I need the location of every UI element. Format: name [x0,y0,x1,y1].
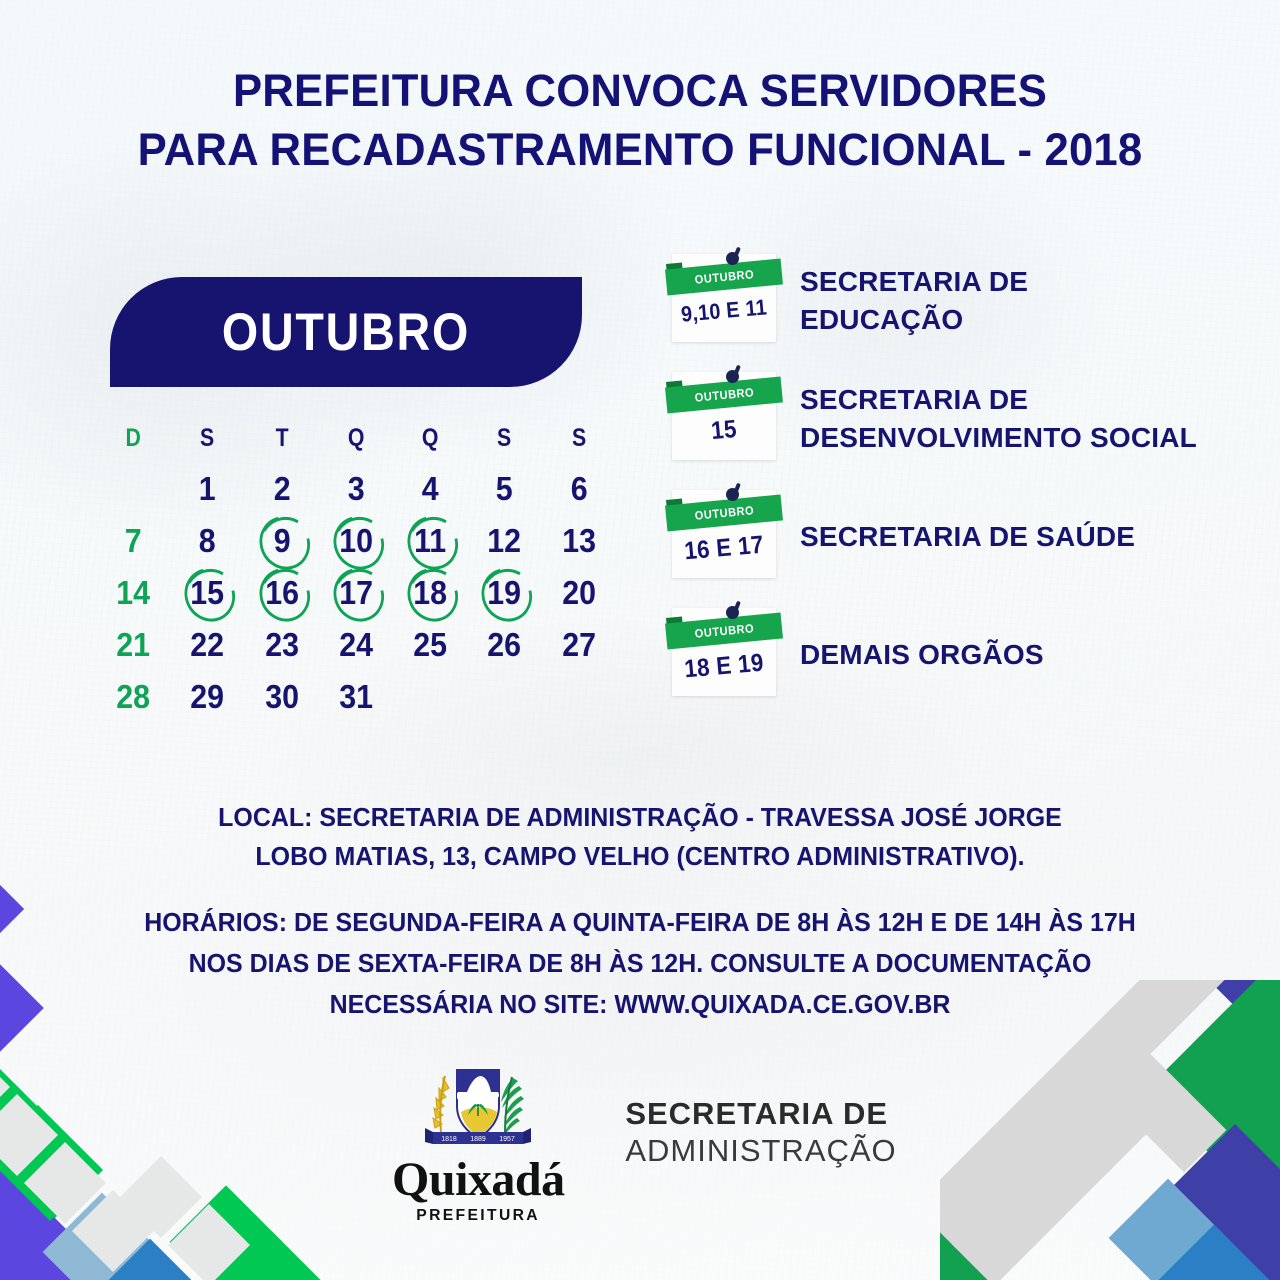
calendar-day-2[interactable]: 2 [248,463,316,515]
calendar-day-number: 2 [273,470,290,508]
calendar-day-number: 27 [562,626,596,664]
schedule-label-line-1: SECRETARIA DE [800,381,1250,419]
pushpin-icon [726,488,739,501]
calendar-day-number: 3 [348,470,365,508]
ribbon-banner: OUTUBRO [665,259,783,296]
calendar-week-row: 21222324252627 [96,619,616,671]
calendar-day-number: 19 [488,574,522,612]
prefeitura-logo: 1818 1889 1957 Quixadá PREFEITURA [383,1062,573,1225]
calendar-day-15[interactable]: 15 [173,567,241,619]
calendar-weekday-header: DSTQQSS [96,424,616,463]
calendar-day-number: 24 [339,626,373,664]
ribbon-month-label: OUTUBRO [694,621,755,641]
calendar-day-number: 26 [488,626,522,664]
title-line-2: PARA RECADASTRAMENTO FUNCIONAL - 2018 [19,121,1261,180]
ribbon-banner: OUTUBRO [665,495,783,532]
calendar-day-20[interactable]: 20 [545,567,613,619]
ribbon-month-label: OUTUBRO [694,503,755,523]
calendar-day-24[interactable]: 24 [322,619,390,671]
tag-dates: 16 E 17 [676,530,772,567]
schedule-label-line-1: SECRETARIA DE SAÚDE [800,518,1250,556]
calendar-day-21[interactable]: 21 [99,619,167,671]
calendar-day-number: 21 [116,626,150,664]
schedule-label-line-1: DEMAIS ORGÃOS [800,636,1250,674]
pushpin-icon [726,606,739,619]
ribbon-month-label: OUTUBRO [694,267,755,287]
schedule-label: SECRETARIA DEDESENVOLVIMENTO SOCIAL [800,364,1250,474]
calendar-day-number: 17 [339,574,373,612]
date-tag-icon: OUTUBRO15 [672,372,776,460]
calendar-day-number: 1 [199,470,216,508]
calendar-day-number: 5 [496,470,513,508]
month-banner: OUTUBRO [110,277,582,387]
weekday-header-2: T [250,424,313,463]
calendar-day-16[interactable]: 16 [248,567,316,619]
calendar-day-31[interactable]: 31 [322,671,390,723]
crest-date-1: 1818 [442,1136,458,1143]
department-line-1: SECRETARIA DE [625,1096,896,1133]
schedule-label: SECRETARIA DE SAÚDE [800,482,1250,592]
brand-subtitle: PREFEITURA [416,1207,540,1225]
calendar-day-number: 10 [339,522,373,560]
poster-title: PREFEITURA CONVOCA SERVIDORES PARA RECAD… [19,62,1261,179]
date-tag-icon: OUTUBRO16 E 17 [672,490,776,578]
weekday-header-5: S [473,424,536,463]
calendar-day-number: 9 [273,522,290,560]
calendar-day-28[interactable]: 28 [99,671,167,723]
calendar-day-number: 14 [116,574,150,612]
department-line-2: ADMINISTRAÇÃO [625,1133,896,1170]
calendar-day-number: 15 [191,574,225,612]
calendar-day-number: 30 [265,678,299,716]
calendar-day-number: 12 [488,522,522,560]
calendar-day-8[interactable]: 8 [173,515,241,567]
title-line-1: PREFEITURA CONVOCA SERVIDORES [233,65,1047,116]
calendar-day-14[interactable]: 14 [99,567,167,619]
tag-dates: 9,10 E 11 [676,294,772,328]
calendar-day-number: 25 [413,626,447,664]
crest-date-3: 1957 [500,1136,516,1143]
department-name: SECRETARIA DE ADMINISTRAÇÃO [625,1062,896,1169]
calendar-day-empty [545,671,613,723]
calendar-day-13[interactable]: 13 [545,515,613,567]
schedule-label: SECRETARIA DEEDUCAÇÃO [800,246,1250,356]
calendar-week-row: 123456 [96,463,616,515]
calendar-day-10[interactable]: 10 [322,515,390,567]
schedule-label-line-2: EDUCAÇÃO [800,301,1250,339]
calendar-day-number: 20 [562,574,596,612]
weekday-header-1: S [176,424,239,463]
ribbon-month-label: OUTUBRO [694,385,755,405]
calendar-grid: DSTQQSS 12345678910111213141516171819202… [96,424,616,723]
calendar-day-number: 22 [191,626,225,664]
calendar-day-3[interactable]: 3 [322,463,390,515]
hours-line-1: HORÁRIOS: DE SEGUNDA-FEIRA A QUINTA-FEIR… [26,902,1255,943]
calendar-day-number: 31 [339,678,373,716]
calendar-day-7[interactable]: 7 [99,515,167,567]
brand-name: Quixadá [392,1156,565,1204]
schedule-label-line-2: DESENVOLVIMENTO SOCIAL [800,419,1250,457]
calendar-day-empty [99,463,167,515]
calendar-week-row: 78910111213 [96,515,616,567]
hours-line-2: NOS DIAS DE SEXTA-FEIRA DE 8H ÀS 12H. CO… [26,943,1255,984]
footer: 1818 1889 1957 Quixadá PREFEITURA SECRET… [0,1062,1280,1222]
calendar-day-17[interactable]: 17 [322,567,390,619]
schedule-item: OUTUBRO16 E 17SECRETARIA DE SAÚDE [672,482,1252,600]
calendar-day-11[interactable]: 11 [396,515,464,567]
calendar-day-5[interactable]: 5 [470,463,538,515]
calendar-day-number: 13 [562,522,596,560]
calendar-day-number: 8 [199,522,216,560]
schedule-label: DEMAIS ORGÃOS [800,600,1250,710]
schedule-item: OUTUBRO9,10 E 11SECRETARIA DEEDUCAÇÃO [672,246,1252,364]
calendar-day-27[interactable]: 27 [545,619,613,671]
calendar-day-26[interactable]: 26 [470,619,538,671]
hours-info: HORÁRIOS: DE SEGUNDA-FEIRA A QUINTA-FEIR… [26,902,1255,1025]
weekday-header-3: Q [324,424,387,463]
weekday-header-4: Q [399,424,462,463]
calendar-week-row: 28293031 [96,671,616,723]
hours-line-3: NECESSÁRIA NO SITE: WWW.QUIXADA.CE.GOV.B… [26,984,1255,1025]
date-tag-icon: OUTUBRO9,10 E 11 [672,254,776,342]
calendar-day-18[interactable]: 18 [396,567,464,619]
pushpin-icon [726,370,739,383]
calendar-day-9[interactable]: 9 [248,515,316,567]
calendar-day-29[interactable]: 29 [173,671,241,723]
calendar-day-number: 23 [265,626,299,664]
pushpin-icon [726,252,739,265]
calendar-day-6[interactable]: 6 [545,463,613,515]
crest-date-2: 1889 [471,1136,487,1143]
date-tag-icon: OUTUBRO18 E 19 [672,608,776,696]
weekday-header-6: S [547,424,610,463]
schedule-label-line-1: SECRETARIA DE [800,263,1250,301]
calendar-day-number: 11 [414,522,446,560]
calendar-weeks: 1234567891011121314151617181920212223242… [96,463,616,723]
calendar-day-1[interactable]: 1 [173,463,241,515]
calendar-day-number: 7 [125,522,142,560]
calendar-day-number: 16 [265,574,299,612]
calendar-day-22[interactable]: 22 [173,619,241,671]
ribbon-banner: OUTUBRO [665,613,783,650]
poster-canvas: PREFEITURA CONVOCA SERVIDORES PARA RECAD… [0,0,1280,1280]
month-label: OUTUBRO [222,302,470,363]
calendar-day-empty [396,671,464,723]
location-line-2: LOBO MATIAS, 13, CAMPO VELHO (CENTRO ADM… [26,837,1255,876]
weekday-header-0: D [102,424,165,463]
coat-of-arms-icon: 1818 1889 1957 [419,1062,537,1154]
calendar-day-number: 6 [570,470,587,508]
schedule-list: OUTUBRO9,10 E 11SECRETARIA DEEDUCAÇÃOOUT… [672,246,1252,718]
calendar-day-19[interactable]: 19 [470,567,538,619]
calendar-day-number: 4 [422,470,439,508]
schedule-item: OUTUBRO15SECRETARIA DEDESENVOLVIMENTO SO… [672,364,1252,482]
location-info: LOCAL: SECRETARIA DE ADMINISTRAÇÃO - TRA… [26,798,1255,876]
ribbon-banner: OUTUBRO [665,377,783,414]
calendar-day-number: 28 [116,678,150,716]
calendar-day-12[interactable]: 12 [470,515,538,567]
calendar-day-30[interactable]: 30 [248,671,316,723]
tag-dates: 18 E 19 [676,648,772,685]
calendar-day-empty [470,671,538,723]
schedule-item: OUTUBRO18 E 19DEMAIS ORGÃOS [672,600,1252,718]
tag-dates: 15 [676,412,772,449]
location-line-1: LOCAL: SECRETARIA DE ADMINISTRAÇÃO - TRA… [26,798,1255,837]
calendar-day-4[interactable]: 4 [396,463,464,515]
calendar-day-number: 18 [413,574,447,612]
calendar-day-number: 29 [191,678,225,716]
calendar-week-row: 14151617181920 [96,567,616,619]
calendar-day-23[interactable]: 23 [248,619,316,671]
calendar-day-25[interactable]: 25 [396,619,464,671]
